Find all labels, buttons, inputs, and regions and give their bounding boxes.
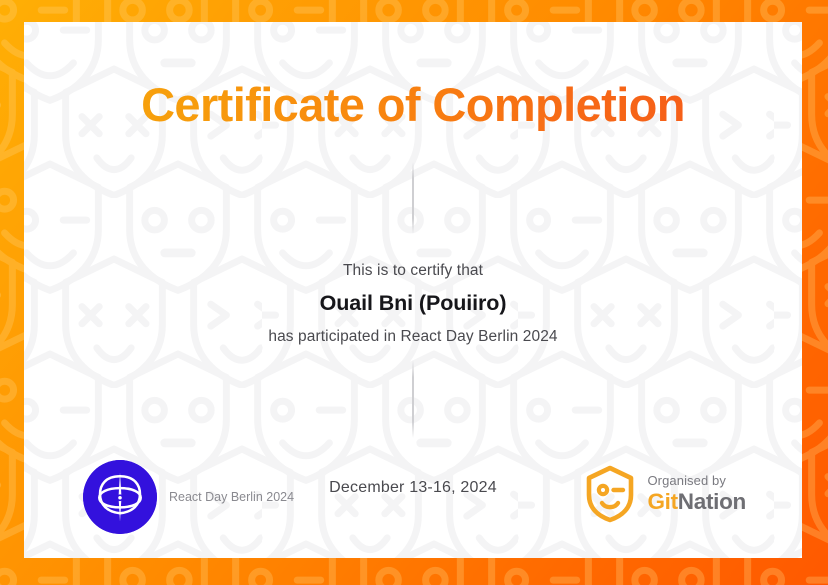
react-atom-berlin-icon	[83, 460, 157, 534]
certificate-body: This is to certify that Ouail Bni (Pouii…	[24, 262, 802, 346]
certificate-card: Certificate of Completion This is to cer…	[24, 22, 802, 558]
gitnation-name: GitNation	[647, 491, 746, 514]
divider-top	[412, 162, 414, 234]
certificate-page: Certificate of Completion This is to cer…	[0, 0, 828, 585]
gitnation-lockup: Organised by GitNation	[584, 465, 746, 523]
page-title: Certificate of Completion	[24, 79, 802, 131]
gitnation-wordmark: Organised by GitNation	[647, 474, 746, 514]
divider-bottom	[412, 360, 414, 438]
participation-line: has participated in React Day Berlin 202…	[24, 328, 802, 346]
certify-line: This is to certify that	[24, 262, 802, 280]
certificate-content: Certificate of Completion This is to cer…	[24, 22, 802, 558]
react-day-berlin-lockup: React Day Berlin 2024	[83, 460, 294, 534]
certificate-footer: React Day Berlin 2024 December 13-16, 20…	[24, 452, 802, 542]
gitnation-shield-face-icon	[584, 465, 636, 523]
recipient-name: Ouail Bni (Pouiiro)	[24, 291, 802, 316]
organised-by-label: Organised by	[647, 474, 746, 487]
gitnation-name-git: Git	[647, 489, 677, 514]
gitnation-name-nation: Nation	[678, 489, 746, 514]
